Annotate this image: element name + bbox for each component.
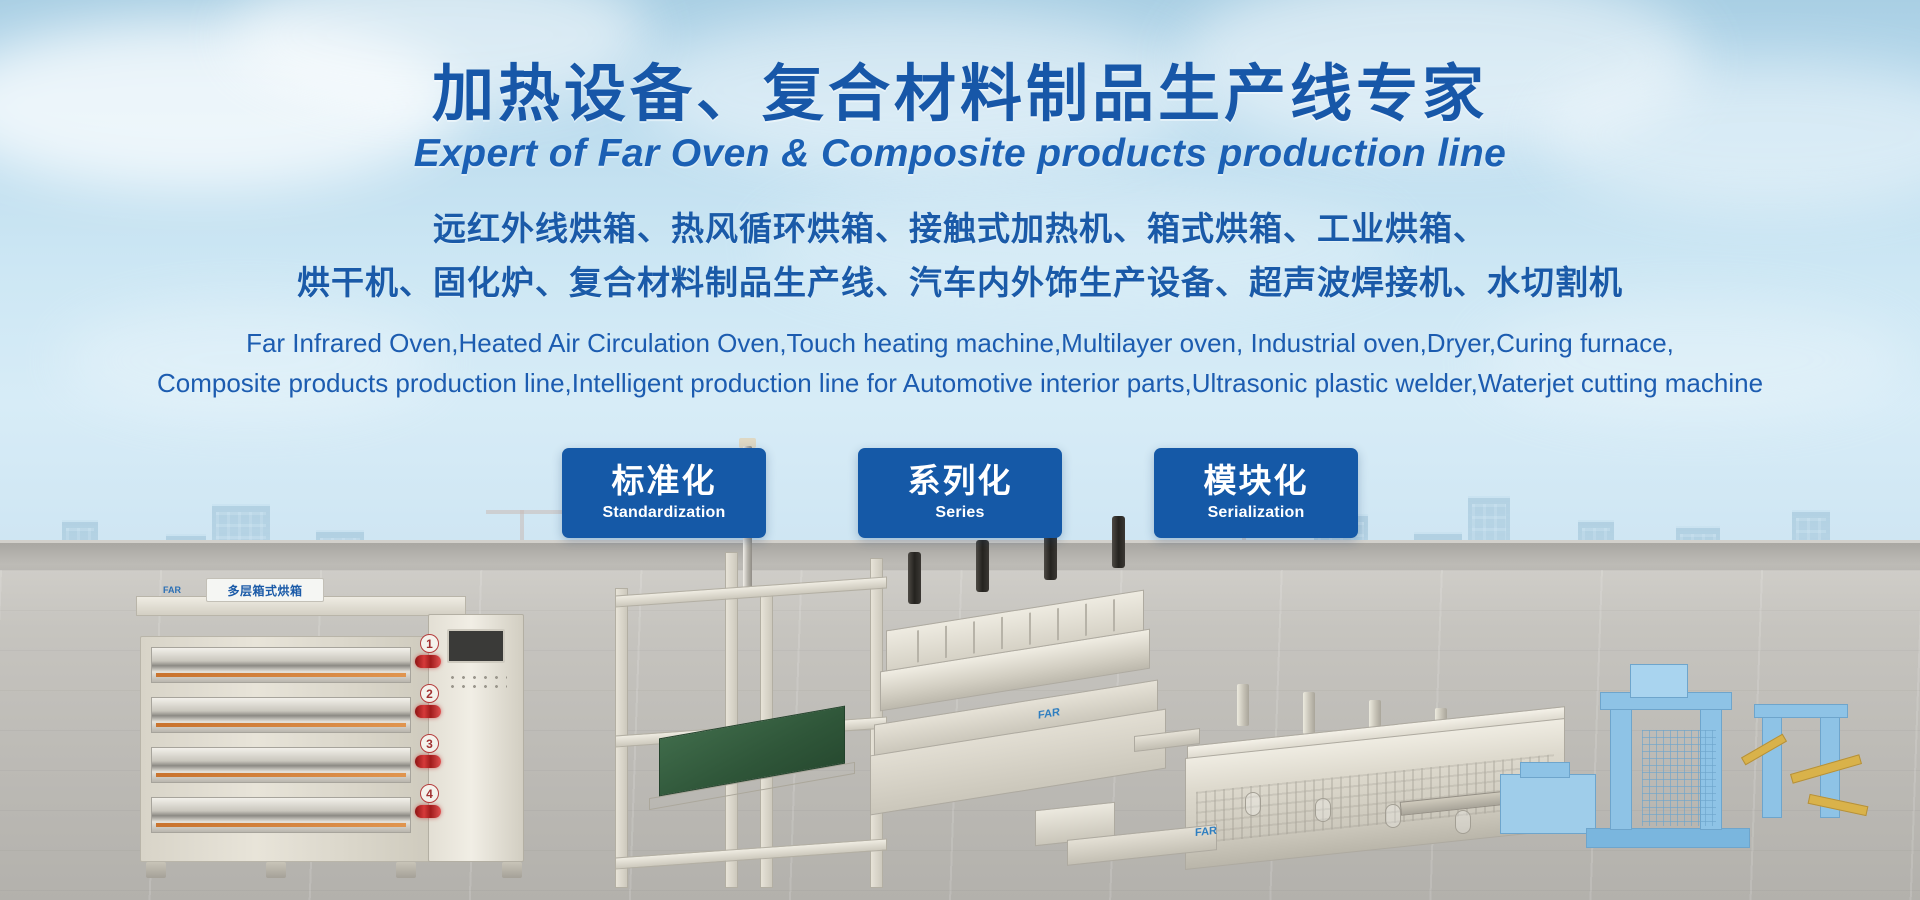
control-display-screen	[447, 629, 505, 663]
exhaust-stack	[1237, 684, 1249, 726]
inspection-port	[1315, 798, 1331, 822]
indicator-number: 2	[420, 684, 439, 703]
press-cylinder	[908, 552, 921, 604]
indicator-lamp	[415, 655, 441, 668]
oven-shelf	[151, 747, 411, 783]
oven-feet	[146, 862, 522, 878]
frame-post	[725, 552, 738, 888]
cell-column	[1610, 700, 1632, 830]
inspection-port	[1455, 810, 1471, 834]
feature-badges: 标准化 Standardization 系列化 Series 模块化 Seria…	[0, 448, 1920, 538]
oven-shelf	[151, 697, 411, 733]
badge-series[interactable]: 系列化 Series	[858, 448, 1062, 538]
indicator-light-1: 1	[413, 647, 447, 675]
headline-chinese: 加热设备、复合材料制品生产线专家	[0, 60, 1920, 128]
oven-nameplate: 多层箱式烘箱	[206, 578, 324, 602]
machine-multilayer-box-oven: FAR 多层箱式烘箱 1 2	[140, 612, 530, 862]
product-list-cn-line-2: 烘干机、固化炉、复合材料制品生产线、汽车内外饰生产设备、超声波焊接机、水切割机	[0, 256, 1920, 309]
cell-module	[1520, 762, 1570, 778]
cell-head-unit	[1630, 664, 1688, 698]
indicator-lamp	[415, 805, 441, 818]
cell-crossbeam	[1754, 704, 1848, 718]
machine-heat-press: FAR	[880, 540, 1180, 840]
oven-shelf	[151, 647, 411, 683]
safety-mesh-guard	[1642, 730, 1716, 826]
oven-shelf	[151, 797, 411, 833]
badge-label-cn: 模块化	[1204, 464, 1309, 499]
badge-serialization[interactable]: 模块化 Serialization	[1154, 448, 1358, 538]
cell-column	[1762, 710, 1782, 818]
headline-english: Expert of Far Oven & Composite products …	[0, 132, 1920, 176]
cell-module	[1500, 774, 1596, 834]
indicator-lamp	[415, 755, 441, 768]
badge-label-en: Series	[935, 504, 984, 522]
hero-banner: 加热设备、复合材料制品生产线专家 Expert of Far Oven & Co…	[0, 0, 1920, 900]
product-list-en-line-1: Far Infrared Oven,Heated Air Circulation…	[0, 323, 1920, 363]
badge-standardization[interactable]: 标准化 Standardization	[562, 448, 766, 538]
indicator-light-4: 4	[413, 797, 447, 825]
oven-nameplate-text: 多层箱式烘箱	[227, 582, 302, 599]
indicator-light-3: 3	[413, 747, 447, 775]
press-cylinder	[976, 540, 989, 592]
exhaust-stack	[1303, 692, 1315, 734]
vent-holes	[447, 673, 507, 691]
inspection-port	[1385, 804, 1401, 828]
frame-rail	[615, 838, 887, 869]
machine-robot-cell	[1490, 660, 1880, 870]
indicator-number: 1	[420, 634, 439, 653]
product-list-english: Far Infrared Oven,Heated Air Circulation…	[0, 323, 1920, 404]
product-list-en-line-2: Composite products production line,Intel…	[0, 363, 1920, 403]
banner-text-block: 加热设备、复合材料制品生产线专家 Expert of Far Oven & Co…	[0, 60, 1920, 404]
indicator-light-2: 2	[413, 697, 447, 725]
product-list-chinese: 远红外线烘箱、热风循环烘箱、接触式加热机、箱式烘箱、工业烘箱、 烘干机、固化炉、…	[0, 202, 1920, 309]
indicator-lamp	[415, 705, 441, 718]
brand-logo: FAR	[1195, 825, 1217, 839]
oven-body	[140, 636, 430, 862]
indicator-number: 4	[420, 784, 439, 803]
product-list-cn-line-1: 远红外线烘箱、热风循环烘箱、接触式加热机、箱式烘箱、工业烘箱、	[0, 202, 1920, 255]
badge-label-en: Serialization	[1208, 504, 1305, 522]
badge-label-en: Standardization	[602, 504, 725, 522]
badge-label-cn: 标准化	[612, 464, 717, 499]
inspection-port	[1245, 792, 1261, 816]
badge-label-cn: 系列化	[908, 464, 1013, 499]
brand-logo: FAR	[146, 580, 198, 600]
cell-base	[1586, 828, 1750, 848]
oven-control-panel[interactable]: 1 2 3 4	[428, 614, 524, 862]
indicator-number: 3	[420, 734, 439, 753]
